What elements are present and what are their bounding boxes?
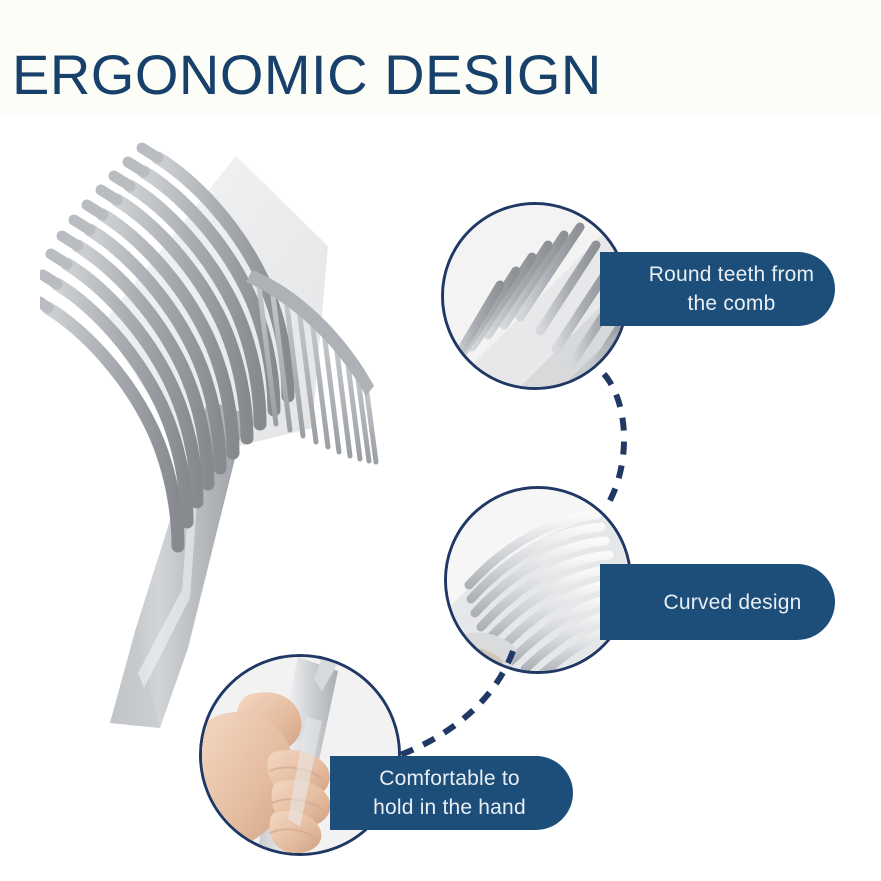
callout-badge-curved-design[interactable]: Curved design — [600, 564, 835, 640]
callout-badge-curved-design-label: Curved design — [663, 588, 801, 617]
page-title: ERGONOMIC DESIGN — [12, 44, 602, 106]
callout-badge-round-teeth-label: Round teeth from the comb — [649, 260, 814, 318]
callout-badge-comfortable-grip-label: Comfortable to hold in the hand — [373, 764, 526, 822]
infographic-canvas: ERGONOMIC DESIGN — [0, 0, 881, 881]
callout-badge-round-teeth[interactable]: Round teeth from the comb — [600, 252, 835, 326]
callout-badge-comfortable-grip[interactable]: Comfortable to hold in the hand — [330, 756, 573, 830]
connector-teeth-to-curve — [560, 370, 670, 510]
